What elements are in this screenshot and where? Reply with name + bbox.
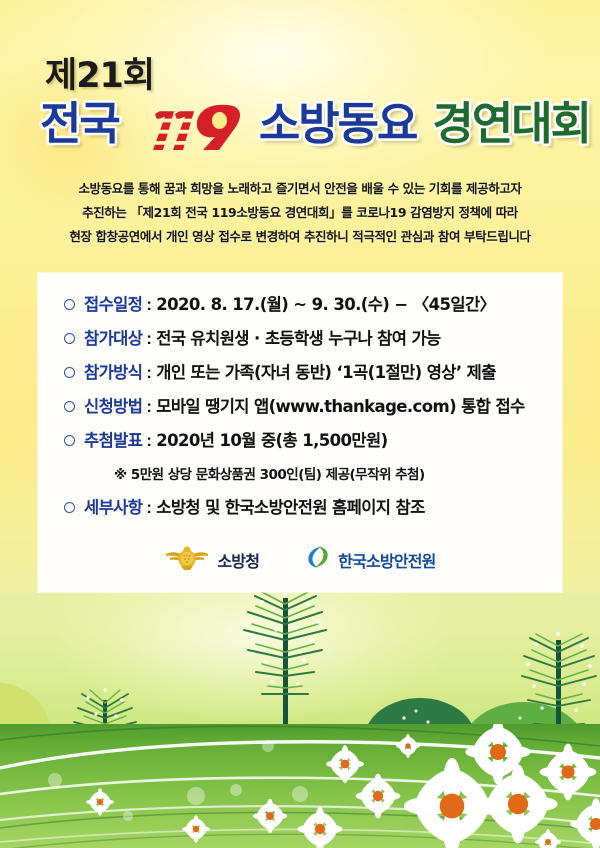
logo-kfsi: 한국소방안전원 — [305, 544, 435, 575]
list-item: 세부사항 : 소방청 및 한국소방안전원 홈페이지 참조 — [64, 498, 562, 518]
poster-root: 제21회 전국 — [0, 0, 600, 848]
title-word-jeonguk: 전국 — [40, 96, 119, 152]
list-item: 추첨발표 : 2020년 10월 중(총 1,500만원) — [64, 431, 562, 451]
list-item: 참가대상 : 전국 유치원생 · 초등학생 누구나 참여 가능 — [64, 329, 562, 349]
item-value-with-url[interactable]: 모바일 땡기지 앱(www.thankage.com) 통합 접수 — [156, 397, 524, 417]
item-value: 2020. 8. 17.(월) ~ 9. 30.(수) − 〈45일간〉 — [156, 295, 495, 315]
prize-note: ※ 5만원 상당 문화상품권 300인(팀) 제공(무작위 추첨) — [114, 463, 562, 483]
item-label: 참가대상 — [84, 329, 142, 349]
item-separator: : — [142, 295, 156, 315]
item-value: 소방청 및 한국소방안전원 홈페이지 참조 — [156, 498, 424, 518]
title-word-sobangdongyo: 소방동요 — [259, 96, 417, 152]
title-edition: 제21회 — [45, 47, 154, 98]
item-separator: : — [142, 397, 156, 417]
grass-flowers-footer — [0, 724, 600, 848]
circle-bullet-icon — [64, 367, 75, 378]
poster-header: 제21회 전국 — [0, 0, 600, 175]
item-label: 추첨발표 — [84, 431, 142, 451]
item-value: 개인 또는 가족(자녀 동반) ‘1곡(1절만) 영상’ 제출 — [156, 363, 496, 383]
item-separator: : — [142, 363, 156, 383]
logo-label: 한국소방안전원 — [338, 548, 435, 572]
kfsi-swirl-logo-icon — [305, 544, 331, 575]
list-item: 참가방식 : 개인 또는 가족(자녀 동반) ‘1곡(1절만) 영상’ 제출 — [64, 363, 562, 383]
logo-label: 소방청 — [217, 548, 259, 572]
119-logo-icon — [141, 100, 253, 152]
item-label: 신청방법 — [84, 397, 142, 417]
circle-bullet-icon — [64, 299, 75, 310]
circle-bullet-icon — [64, 333, 75, 344]
title-word-competition: 경연대회 — [432, 96, 590, 152]
list-item: 신청방법 : 모바일 땡기지 앱(www.thankage.com) 통합 접수 — [64, 397, 562, 417]
circle-bullet-icon — [64, 401, 75, 412]
circle-bullet-icon — [64, 435, 75, 446]
item-label: 접수일정 — [84, 295, 142, 315]
intro-line-1: 소방동요를 통해 꿈과 희망을 노래하고 즐기면서 안전을 배울 수 있는 기회… — [0, 178, 600, 197]
title-main: 전국 — [40, 96, 590, 152]
details-card: 접수일정 : 2020. 8. 17.(월) ~ 9. 30.(수) − 〈45… — [38, 273, 562, 592]
item-separator: : — [142, 498, 156, 518]
item-value: 2020년 10월 중(총 1,500만원) — [156, 431, 387, 451]
item-label: 세부사항 — [84, 498, 142, 518]
circle-bullet-icon — [64, 502, 75, 513]
intro-paragraph: 소방동요를 통해 꿈과 희망을 노래하고 즐기면서 안전을 배울 수 있는 기회… — [0, 178, 600, 250]
item-value: 전국 유치원생 · 초등학생 누구나 참여 가능 — [156, 329, 440, 349]
item-separator: : — [142, 329, 156, 349]
item-separator: : — [142, 431, 156, 451]
intro-line-3: 현장 합창공연에서 개인 영상 접수로 변경하여 추진하니 적극적인 관심과 참… — [0, 226, 600, 245]
sponsor-logos: 소방청 한국소방안전원 — [38, 543, 562, 576]
list-item: 접수일정 : 2020. 8. 17.(월) ~ 9. 30.(수) − 〈45… — [64, 295, 562, 315]
details-list: 접수일정 : 2020. 8. 17.(월) ~ 9. 30.(수) − 〈45… — [38, 273, 562, 518]
fire-agency-eagle-emblem-icon — [164, 543, 210, 576]
item-label: 참가방식 — [84, 363, 142, 383]
logo-fire-agency: 소방청 — [164, 543, 259, 576]
intro-line-2: 추진하는 「제21회 전국 119소방동요 경연대회」를 코로나19 감염방지 … — [0, 202, 600, 221]
